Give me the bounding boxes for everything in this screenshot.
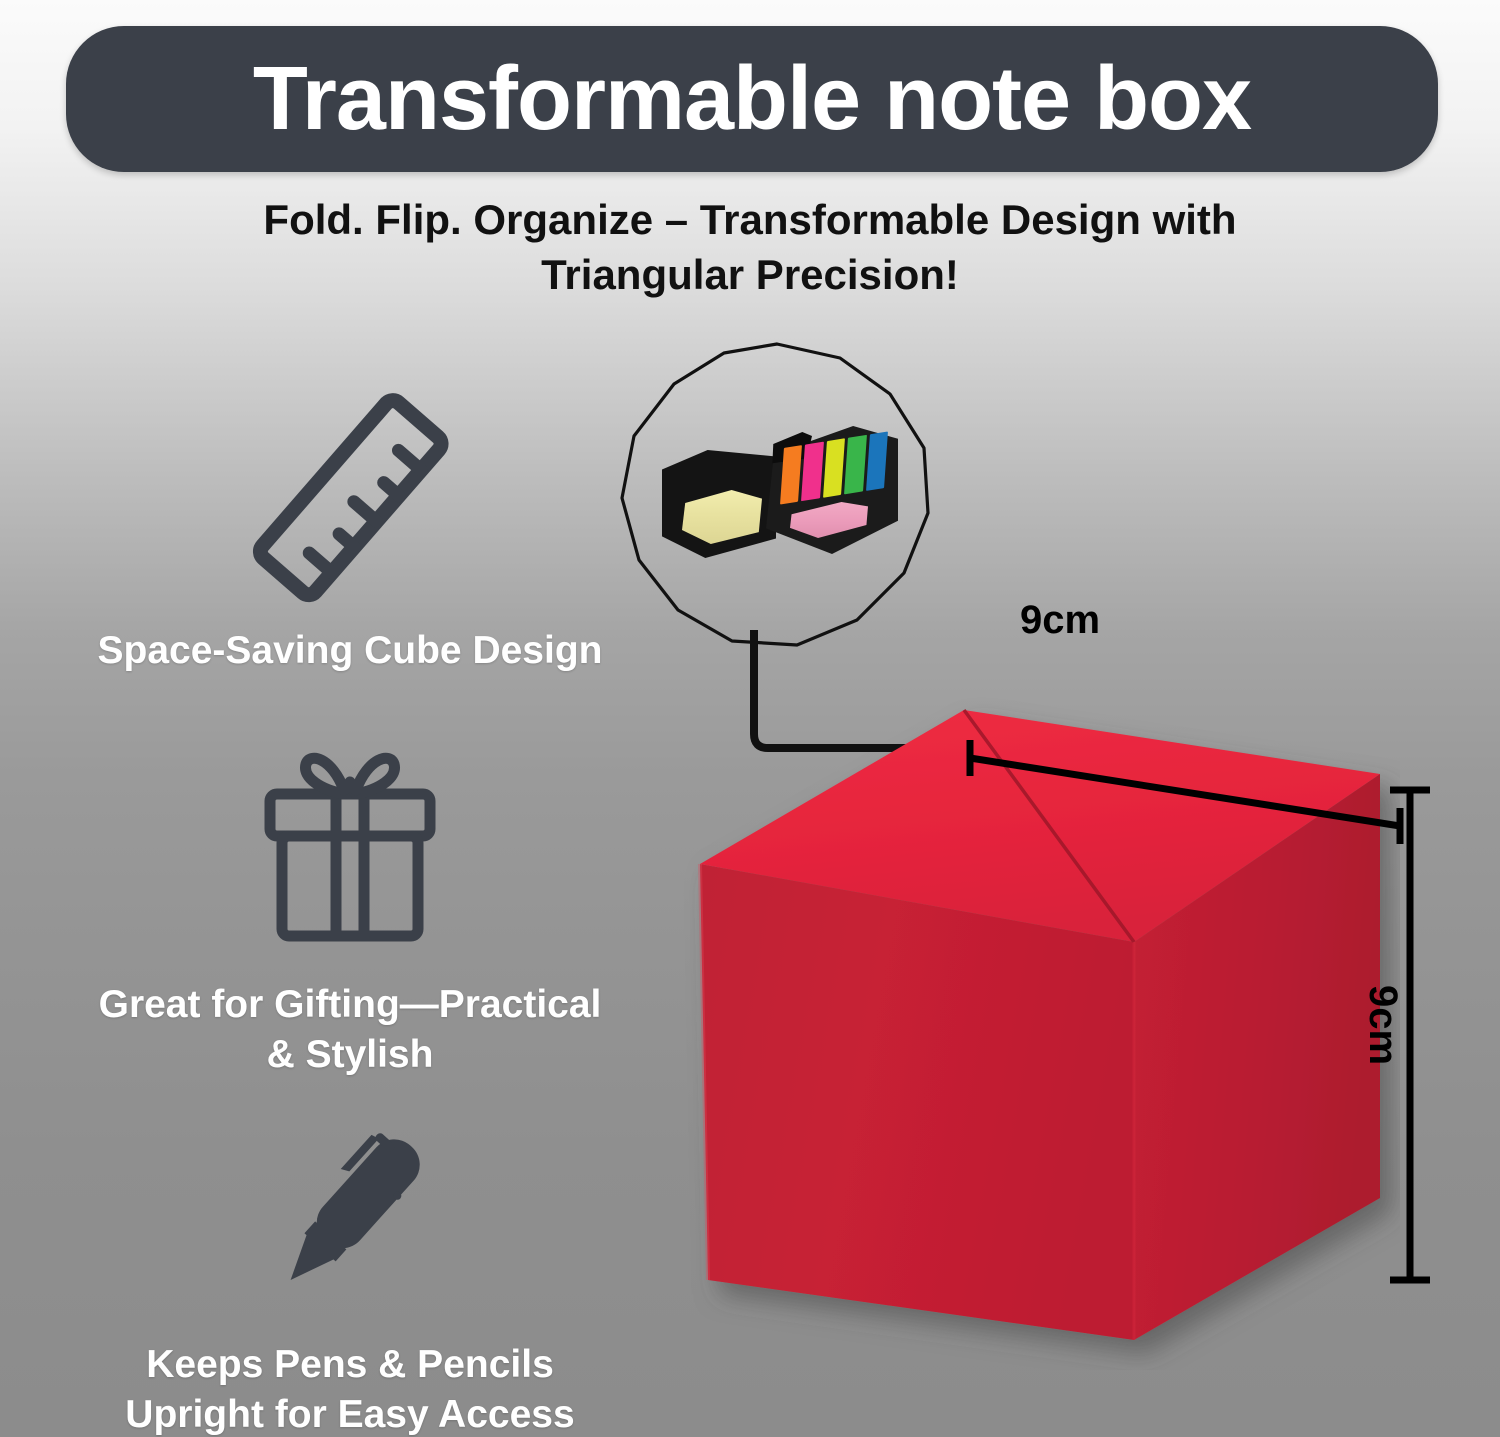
subtitle: Fold. Flip. Organize – Transformable Des… [210,192,1290,303]
flag-yellow [823,438,845,498]
page-title: Transformable note box [253,54,1251,144]
subtitle-line-2: Triangular Precision! [210,247,1290,302]
product-infographic: Transformable note box Fold. Flip. Organ… [0,0,1500,1437]
flag-pink [801,442,823,502]
product-detail-callout [612,338,942,668]
feature-label-gifting-line-2: & Stylish [40,1030,660,1080]
pen-icon [40,1086,660,1336]
dimension-lines [950,650,1490,1315]
feature-label-space-saving: Space-Saving Cube Design [40,626,660,676]
height-dimension-label: 9cm [1360,985,1405,1065]
feature-label-gifting-line-1: Great for Gifting—Practical [40,980,660,1030]
feature-label-gifting: Great for Gifting—Practical & Stylish [40,980,660,1080]
feature-label-pen-line-2: Upright for Easy Access [40,1390,660,1437]
feature-label-pen-storage: Keeps Pens & Pencils Upright for Easy Ac… [40,1340,660,1437]
feature-label-pen-line-1: Keeps Pens & Pencils [40,1340,660,1390]
ruler-icon [40,372,660,622]
subtitle-line-1: Fold. Flip. Organize – Transformable Des… [210,192,1290,247]
feature-pen-storage: Keeps Pens & Pencils Upright for Easy Ac… [40,1086,660,1437]
width-dimension-line [970,740,1400,844]
width-dimension-label: 9cm [1020,598,1100,643]
flag-green [844,435,866,495]
feature-space-saving: Space-Saving Cube Design [40,372,660,676]
gift-box-icon [40,726,660,976]
title-banner: Transformable note box [66,26,1438,172]
organizer-photo [660,418,900,593]
flag-orange [780,445,802,505]
feature-gifting: Great for Gifting—Practical & Stylish [40,726,660,1080]
